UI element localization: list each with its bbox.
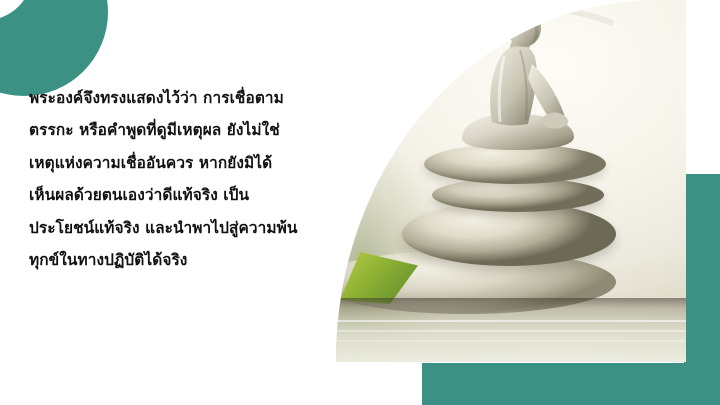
body-text-line: ตรรกะ หรือคำพูดที่ดูมีเหตุผล ยังไม่ใช่ (29, 114, 347, 146)
body-text-line: เหตุแห่งความเชื่ออันควร หากยังมิได้ (29, 147, 347, 179)
body-text-line: ทุกข์ในทางปฏิบัติได้จริง (29, 244, 347, 276)
teal-block-horizontal-decoration (422, 363, 720, 405)
water-reflection (336, 298, 686, 362)
body-text-line: พระองค์จึงทรงแสดงไว้ว่า การเชื่อตาม (29, 82, 347, 114)
buddha-photo (336, 0, 686, 362)
body-text-line: เห็นผลด้วยตนเองว่าดีแท้จริง เป็น (29, 179, 347, 211)
buddha-statue (448, 4, 584, 156)
presentation-slide: พระองค์จึงทรงแสดงไว้ว่า การเชื่อตาม ตรรก… (0, 0, 720, 405)
photo-backdrop (336, 0, 686, 362)
body-text-block: พระองค์จึงทรงแสดงไว้ว่า การเชื่อตาม ตรรก… (29, 82, 347, 276)
body-text-line: ประโยชน์แท้จริง และนำพาไปสู่ความพ้น (29, 212, 347, 244)
